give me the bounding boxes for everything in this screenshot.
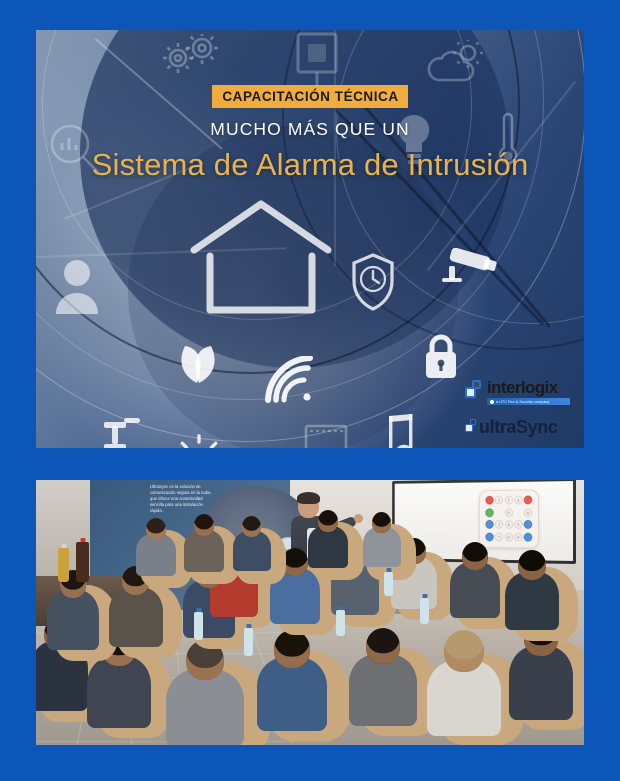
attendee-shoulders <box>450 562 500 618</box>
gears-icon <box>162 34 220 74</box>
attendee-head <box>372 512 391 533</box>
water-bottle <box>58 548 69 582</box>
security-camera-icon <box>442 248 500 296</box>
attendee-shoulders <box>184 530 224 572</box>
attendee-shoulders <box>349 654 417 726</box>
water-bottle <box>76 542 89 582</box>
attendee-head <box>518 550 546 580</box>
water-bottle <box>194 612 203 640</box>
ultrasync-wordmark: ultraSync <box>479 418 557 436</box>
attendee-shoulders <box>257 657 327 731</box>
wifi-icon <box>264 356 314 404</box>
interlogix-wordmark: interlogix <box>487 379 570 396</box>
attendee-head <box>274 630 310 668</box>
padlock-icon <box>420 330 462 382</box>
attendee-head <box>242 516 261 537</box>
attendee-shoulders <box>109 587 163 647</box>
attendee-shoulders <box>509 646 573 720</box>
interlogix-tagline: a UTC Fire & Security company <box>496 400 549 404</box>
interlogix-logo: interlogix a UTC Fire & Security company <box>465 379 570 405</box>
window-blinds-icon <box>294 30 340 88</box>
attendee-shoulders <box>47 590 99 650</box>
banner-logo-group: interlogix a UTC Fire & Security company… <box>465 379 570 436</box>
sun-icon <box>176 434 222 448</box>
attendee-head <box>194 514 214 536</box>
bottle-cap <box>386 568 391 572</box>
attendee-head <box>146 518 166 540</box>
ultrasync-logo: ultraSync <box>465 418 570 436</box>
banner-title: Sistema de Alarma de Intrusión <box>36 147 584 183</box>
interlogix-squares-icon <box>465 380 484 399</box>
bottle-cap <box>338 606 343 610</box>
banner-subtitle: MUCHO MÁS QUE UN <box>36 119 584 140</box>
ultrasync-squares-icon <box>465 419 478 432</box>
attendee-shoulders <box>136 534 176 576</box>
attendee-head <box>444 630 484 672</box>
water-bottle <box>420 598 429 624</box>
bottle-cap <box>246 624 251 628</box>
attendee-head <box>318 510 338 532</box>
leaf-icon <box>173 340 223 384</box>
water-bottle <box>336 610 345 636</box>
person-icon <box>54 258 100 314</box>
bottle-cap <box>61 544 66 548</box>
music-note-icon <box>376 414 416 448</box>
bottle-cap <box>80 538 85 542</box>
interlogix-tagline-bar: a UTC Fire & Security company <box>487 398 570 405</box>
training-session-photo: UltraSync es la solución de comunicación… <box>36 480 584 745</box>
attendee-head <box>462 542 488 570</box>
house-outline-icon <box>186 198 336 316</box>
training-banner-image: CAPACITACIÓN TÉCNICA MUCHO MÁS QUE UN Si… <box>36 30 584 448</box>
faucet-icon <box>102 414 146 448</box>
bottle-cap <box>196 608 201 612</box>
water-bottle <box>384 572 393 596</box>
cloud-weather-icon <box>424 40 488 88</box>
attendee-shoulders <box>87 656 151 728</box>
bottle-cap <box>422 594 427 598</box>
attendee-shoulders <box>233 531 271 571</box>
shield-clock-icon <box>350 252 396 312</box>
attendee-head <box>366 628 400 664</box>
attendee-shoulders <box>505 572 559 630</box>
interlogix-tagline-dot <box>490 400 494 404</box>
attendee-shoulders <box>308 526 348 568</box>
window-blinds-bottom-icon <box>304 424 348 448</box>
banner-kicker-badge: CAPACITACIÓN TÉCNICA <box>212 85 407 108</box>
banner-text-block: CAPACITACIÓN TÉCNICA MUCHO MÁS QUE UN Si… <box>36 85 584 183</box>
attendee-shoulders <box>363 527 401 567</box>
attendee-shoulders <box>166 669 244 745</box>
water-bottle <box>244 628 253 656</box>
